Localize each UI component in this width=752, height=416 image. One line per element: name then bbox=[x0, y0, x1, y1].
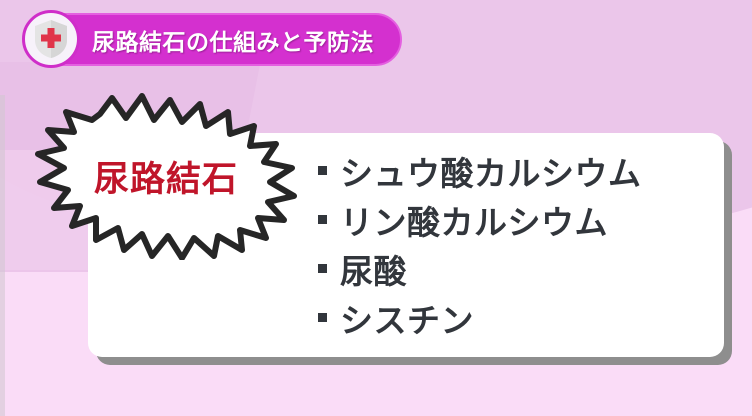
list-item: シュウ酸カルシウム bbox=[318, 146, 718, 195]
starburst-callout: 尿路結石 bbox=[30, 92, 298, 260]
medical-shield-cross-icon bbox=[22, 10, 80, 68]
background-left-edge-strip bbox=[0, 95, 5, 416]
square-bullet-icon bbox=[318, 313, 327, 322]
list-item-label: シュウ酸カルシウム bbox=[340, 147, 642, 195]
list-item: 尿酸 bbox=[318, 244, 718, 293]
list-item-label: 尿酸 bbox=[340, 245, 407, 293]
header-pill: 尿路結石の仕組みと予防法 bbox=[24, 13, 402, 66]
list-item-label: シスチン bbox=[340, 294, 474, 342]
list-item-label: リン酸カルシウム bbox=[340, 196, 608, 244]
list-item: リン酸カルシウム bbox=[318, 195, 718, 244]
square-bullet-icon bbox=[318, 166, 327, 175]
square-bullet-icon bbox=[318, 215, 327, 224]
stone-type-list: シュウ酸カルシウム リン酸カルシウム 尿酸 シスチン bbox=[318, 146, 718, 342]
page-title: 尿路結石の仕組みと予防法 bbox=[92, 23, 374, 57]
list-item: シスチン bbox=[318, 293, 718, 342]
square-bullet-icon bbox=[318, 264, 327, 273]
slide-root: 尿路結石の仕組みと予防法 シュウ酸カルシウム リン酸カルシウム 尿酸 シスチン bbox=[0, 0, 752, 416]
callout-label: 尿路結石 bbox=[30, 92, 298, 260]
